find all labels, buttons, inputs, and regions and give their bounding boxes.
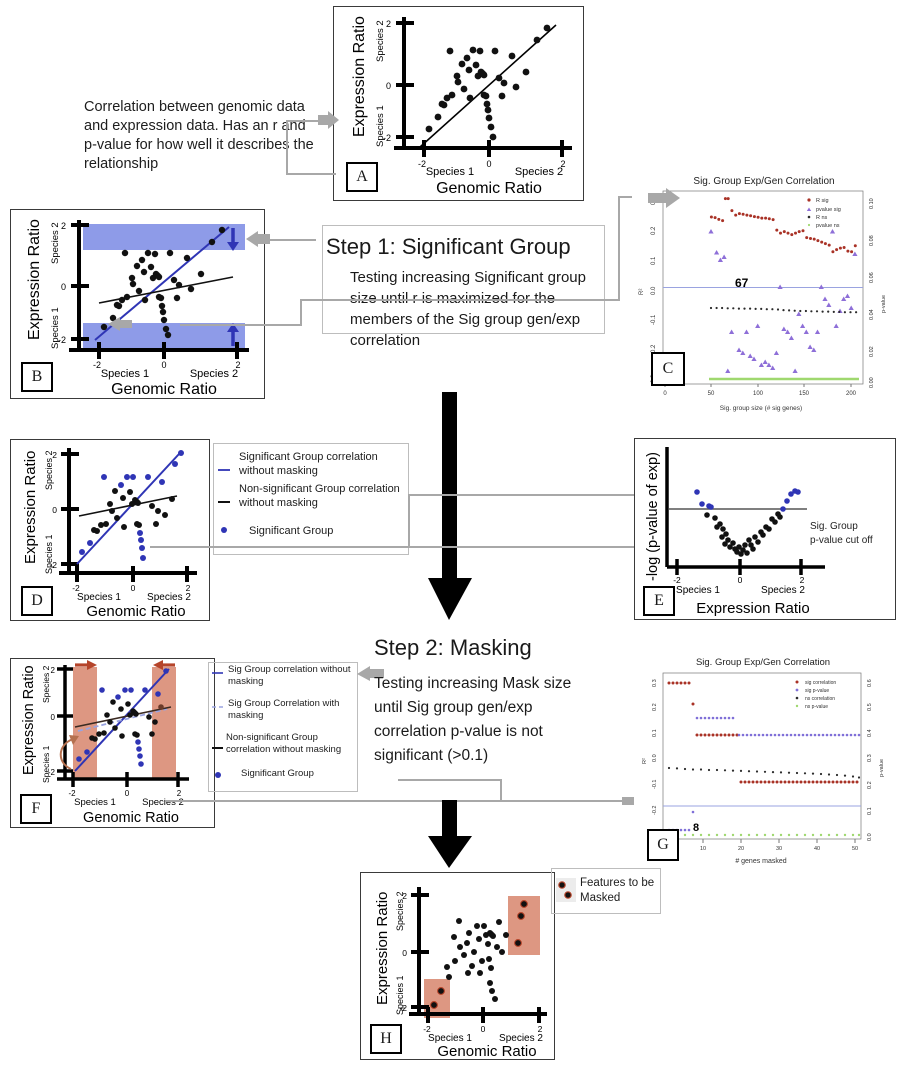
svg-text:R²: R² <box>639 289 645 295</box>
svg-text:2: 2 <box>386 19 391 29</box>
svg-text:0: 0 <box>663 391 667 397</box>
svg-text:0.08: 0.08 <box>869 235 875 246</box>
svg-text:ns p-value: ns p-value <box>805 704 828 710</box>
svg-text:sig p-value: sig p-value <box>805 688 829 694</box>
panel-a-letter: A <box>346 162 378 192</box>
panel-d: 2 0 -2 -2 0 2 Species 1 Species 2 Genomi… <box>10 439 210 621</box>
panel-b-letter: B <box>21 362 53 392</box>
panel-c-letter: C <box>651 352 685 386</box>
svg-text:2: 2 <box>800 575 805 585</box>
svg-text:0.02: 0.02 <box>869 346 875 357</box>
panel-d-legend-item-1: Non-significant Group correlation withou… <box>239 482 407 510</box>
panel-h-letter: H <box>370 1024 402 1054</box>
svg-text:-2: -2 <box>418 159 426 169</box>
svg-text:Genomic Ratio: Genomic Ratio <box>437 1043 536 1060</box>
connector-step1-c-v <box>618 196 620 300</box>
connector-d-e <box>150 546 640 548</box>
svg-text:Species 2: Species 2 <box>142 797 184 808</box>
svg-text:0: 0 <box>61 282 66 292</box>
svg-text:Species 2: Species 2 <box>190 368 238 380</box>
svg-text:150: 150 <box>799 391 810 397</box>
svg-text:2: 2 <box>51 666 56 675</box>
panel-d-letter: D <box>21 586 53 616</box>
svg-text:50: 50 <box>852 846 858 852</box>
svg-text:Genomic Ratio: Genomic Ratio <box>86 603 185 620</box>
svg-text:0.06: 0.06 <box>869 272 875 283</box>
svg-text:0.0: 0.0 <box>651 286 657 295</box>
svg-text:2: 2 <box>61 221 66 231</box>
svg-text:Species 2: Species 2 <box>44 450 54 490</box>
svg-text:# genes masked: # genes masked <box>735 858 786 865</box>
svg-text:Species 1: Species 1 <box>77 592 121 603</box>
svg-text:20: 20 <box>738 846 744 852</box>
svg-text:0.3: 0.3 <box>652 679 658 687</box>
svg-text:0: 0 <box>131 583 136 593</box>
svg-text:p-value: p-value <box>879 759 885 777</box>
svg-text:-0.1: -0.1 <box>651 314 657 325</box>
svg-text:Species 1: Species 1 <box>50 307 61 349</box>
svg-text:0.1: 0.1 <box>652 729 658 737</box>
svg-text:0.10: 0.10 <box>869 198 875 209</box>
svg-text:Species 1: Species 1 <box>101 368 149 380</box>
panel-h-legend-item-0: Features to be Masked <box>580 876 660 906</box>
svg-text:100: 100 <box>753 391 764 397</box>
panel-f: 2 0 -2 -2 0 2 Species 1 Species 2 Genomi… <box>10 658 215 828</box>
svg-text:Sig. Group Exp/Gen Correlation: Sig. Group Exp/Gen Correlation <box>693 176 834 187</box>
svg-text:0.1: 0.1 <box>867 807 873 815</box>
svg-text:0: 0 <box>402 948 407 958</box>
svg-text:Species 1: Species 1 <box>676 585 720 596</box>
svg-text:Species 1: Species 1 <box>44 534 54 574</box>
svg-text:p-value cut off: p-value cut off <box>810 535 873 546</box>
svg-text:-0.2: -0.2 <box>652 806 658 815</box>
arrow-b2-icon <box>108 317 132 333</box>
svg-text:-0.1: -0.1 <box>652 780 658 789</box>
svg-text:sig correlation: sig correlation <box>805 680 836 686</box>
svg-text:pvalue ns: pvalue ns <box>816 223 840 229</box>
svg-text:Species 1: Species 1 <box>395 975 405 1015</box>
svg-text:200: 200 <box>846 391 857 397</box>
connector-b-arrow <box>268 239 316 241</box>
svg-text:50: 50 <box>708 391 715 397</box>
connector-a <box>286 173 336 175</box>
svg-text:30: 30 <box>776 846 782 852</box>
svg-text:Species 2: Species 2 <box>375 20 386 62</box>
svg-text:Species 1: Species 1 <box>41 745 51 783</box>
panel-e-letter: E <box>643 586 675 616</box>
svg-text:0: 0 <box>481 1024 486 1034</box>
svg-text:0.04: 0.04 <box>869 309 875 320</box>
panel-f-legend-item-3: Significant Group <box>241 768 357 780</box>
svg-text:Sig. Group: Sig. Group <box>810 521 858 532</box>
svg-text:Species 1: Species 1 <box>74 797 116 808</box>
connector-step1-c <box>300 299 620 301</box>
svg-text:0.2: 0.2 <box>652 703 658 711</box>
svg-text:0: 0 <box>386 81 391 91</box>
svg-text:0: 0 <box>51 713 56 722</box>
svg-text:Expression Ratio: Expression Ratio <box>696 600 809 617</box>
svg-text:0.0: 0.0 <box>652 754 658 762</box>
panel-f-legend-item-0: Sig Group correlation without masking <box>228 664 356 688</box>
panel-h: 2 0 -2 -2 0 2 Species 1 Species 2 Genomi… <box>360 872 555 1060</box>
panel-g-callout: 8 <box>693 822 699 834</box>
connector-f-g <box>165 800 625 802</box>
svg-text:Expression Ratio: Expression Ratio <box>374 892 391 1005</box>
svg-text:0.4: 0.4 <box>867 729 873 737</box>
svg-text:-log (p-value of exp): -log (p-value of exp) <box>645 452 661 581</box>
svg-text:0.00: 0.00 <box>869 377 875 388</box>
masked-feature-icon <box>556 878 578 904</box>
svg-text:Species 1: Species 1 <box>375 105 386 147</box>
arrow-c-icon <box>648 188 680 208</box>
svg-text:Species 2: Species 2 <box>41 665 51 703</box>
connector-b-to-step1-h <box>180 324 302 326</box>
svg-text:R sig: R sig <box>816 198 829 204</box>
svg-text:Genomic Ratio: Genomic Ratio <box>111 381 217 398</box>
svg-text:10: 10 <box>700 846 706 852</box>
step2-title: Step 2: Masking <box>374 635 614 661</box>
panel-f-legend-item-1: Sig Group Correlation with masking <box>228 698 358 722</box>
panel-e: Sig. Group p-value cut off -2 0 2 Specie… <box>634 438 896 620</box>
flow-arrow-2-icon <box>410 800 490 870</box>
panel-g-letter: G <box>647 829 679 861</box>
flow-arrow-1-icon <box>410 392 490 622</box>
svg-text:Sig. group size (# sig genes): Sig. group size (# sig genes) <box>720 405 802 412</box>
svg-text:0.2: 0.2 <box>651 226 657 235</box>
svg-text:Expression Ratio: Expression Ratio <box>351 16 368 137</box>
svg-text:Genomic Ratio: Genomic Ratio <box>436 180 542 197</box>
svg-text:Species 1: Species 1 <box>426 166 474 178</box>
svg-text:0: 0 <box>486 159 491 169</box>
svg-text:Species 2: Species 2 <box>515 166 563 178</box>
svg-text:0.3: 0.3 <box>867 754 873 762</box>
svg-text:Species 2: Species 2 <box>761 585 805 596</box>
svg-text:ns correlation: ns correlation <box>805 696 835 702</box>
svg-text:Expression Ratio: Expression Ratio <box>26 219 43 340</box>
svg-text:40: 40 <box>814 846 820 852</box>
svg-text:R ns: R ns <box>816 215 828 221</box>
panel-b: 2 0 -2 -2 0 2 Species 1 Species 2 Genomi… <box>10 209 265 399</box>
panel-d-legend-item-2: Significant Group <box>249 524 409 538</box>
arrow-a-icon <box>318 111 340 131</box>
svg-text:R²: R² <box>642 758 648 764</box>
svg-text:Genomic Ratio: Genomic Ratio <box>83 810 179 826</box>
panel-a: 2 0 -2 -2 0 2 Species 1 Species 2 Genomi… <box>333 6 584 201</box>
svg-text:0: 0 <box>125 789 130 798</box>
svg-text:Expression Ratio: Expression Ratio <box>21 665 37 775</box>
svg-text:0: 0 <box>161 360 166 370</box>
svg-text:0: 0 <box>52 505 57 515</box>
svg-text:Sig. Group Exp/Gen Correlation: Sig. Group Exp/Gen Correlation <box>696 657 830 668</box>
panel-c-callout: 67 <box>735 276 749 290</box>
svg-text:-2: -2 <box>93 360 101 370</box>
arrow-b-icon <box>246 231 270 249</box>
svg-text:Species 2: Species 2 <box>50 222 61 264</box>
panel-f-letter: F <box>20 794 52 824</box>
panel-d-legend-item-0: Significant Group correlation without ma… <box>239 450 407 478</box>
svg-text:-2: -2 <box>673 575 681 585</box>
svg-text:pvalue sig: pvalue sig <box>816 207 841 213</box>
svg-text:0.6: 0.6 <box>867 679 873 687</box>
svg-text:Species 2: Species 2 <box>147 592 191 603</box>
connector-d-e-h <box>408 494 640 496</box>
svg-text:0.0: 0.0 <box>867 833 873 841</box>
panel-c: Sig. Group Exp/Gen Correlation <box>632 172 896 417</box>
panel-f-legend-item-2: Non-significant Group correlation withou… <box>226 732 358 756</box>
step2-body: Testing increasing Mask size until Sig g… <box>374 672 596 768</box>
connector-f-g-h <box>398 779 502 781</box>
panel-d-legend-markers <box>215 450 239 550</box>
svg-text:Expression Ratio: Expression Ratio <box>22 451 39 564</box>
svg-text:p-value: p-value <box>881 295 887 313</box>
connector-b-to-step1 <box>300 299 302 325</box>
panel-g: Sig. Group Exp/Gen Correlation <box>634 648 896 868</box>
connector-f-g-v <box>500 779 502 801</box>
svg-text:0.5: 0.5 <box>867 703 873 711</box>
svg-text:0: 0 <box>738 575 743 585</box>
connector-d-e-v <box>408 494 410 547</box>
svg-text:Species 2: Species 2 <box>395 891 405 931</box>
svg-text:0.1: 0.1 <box>651 256 657 265</box>
svg-text:0.2: 0.2 <box>867 781 873 789</box>
connector-a-vert <box>286 120 288 174</box>
step1-callout-box <box>322 225 605 334</box>
